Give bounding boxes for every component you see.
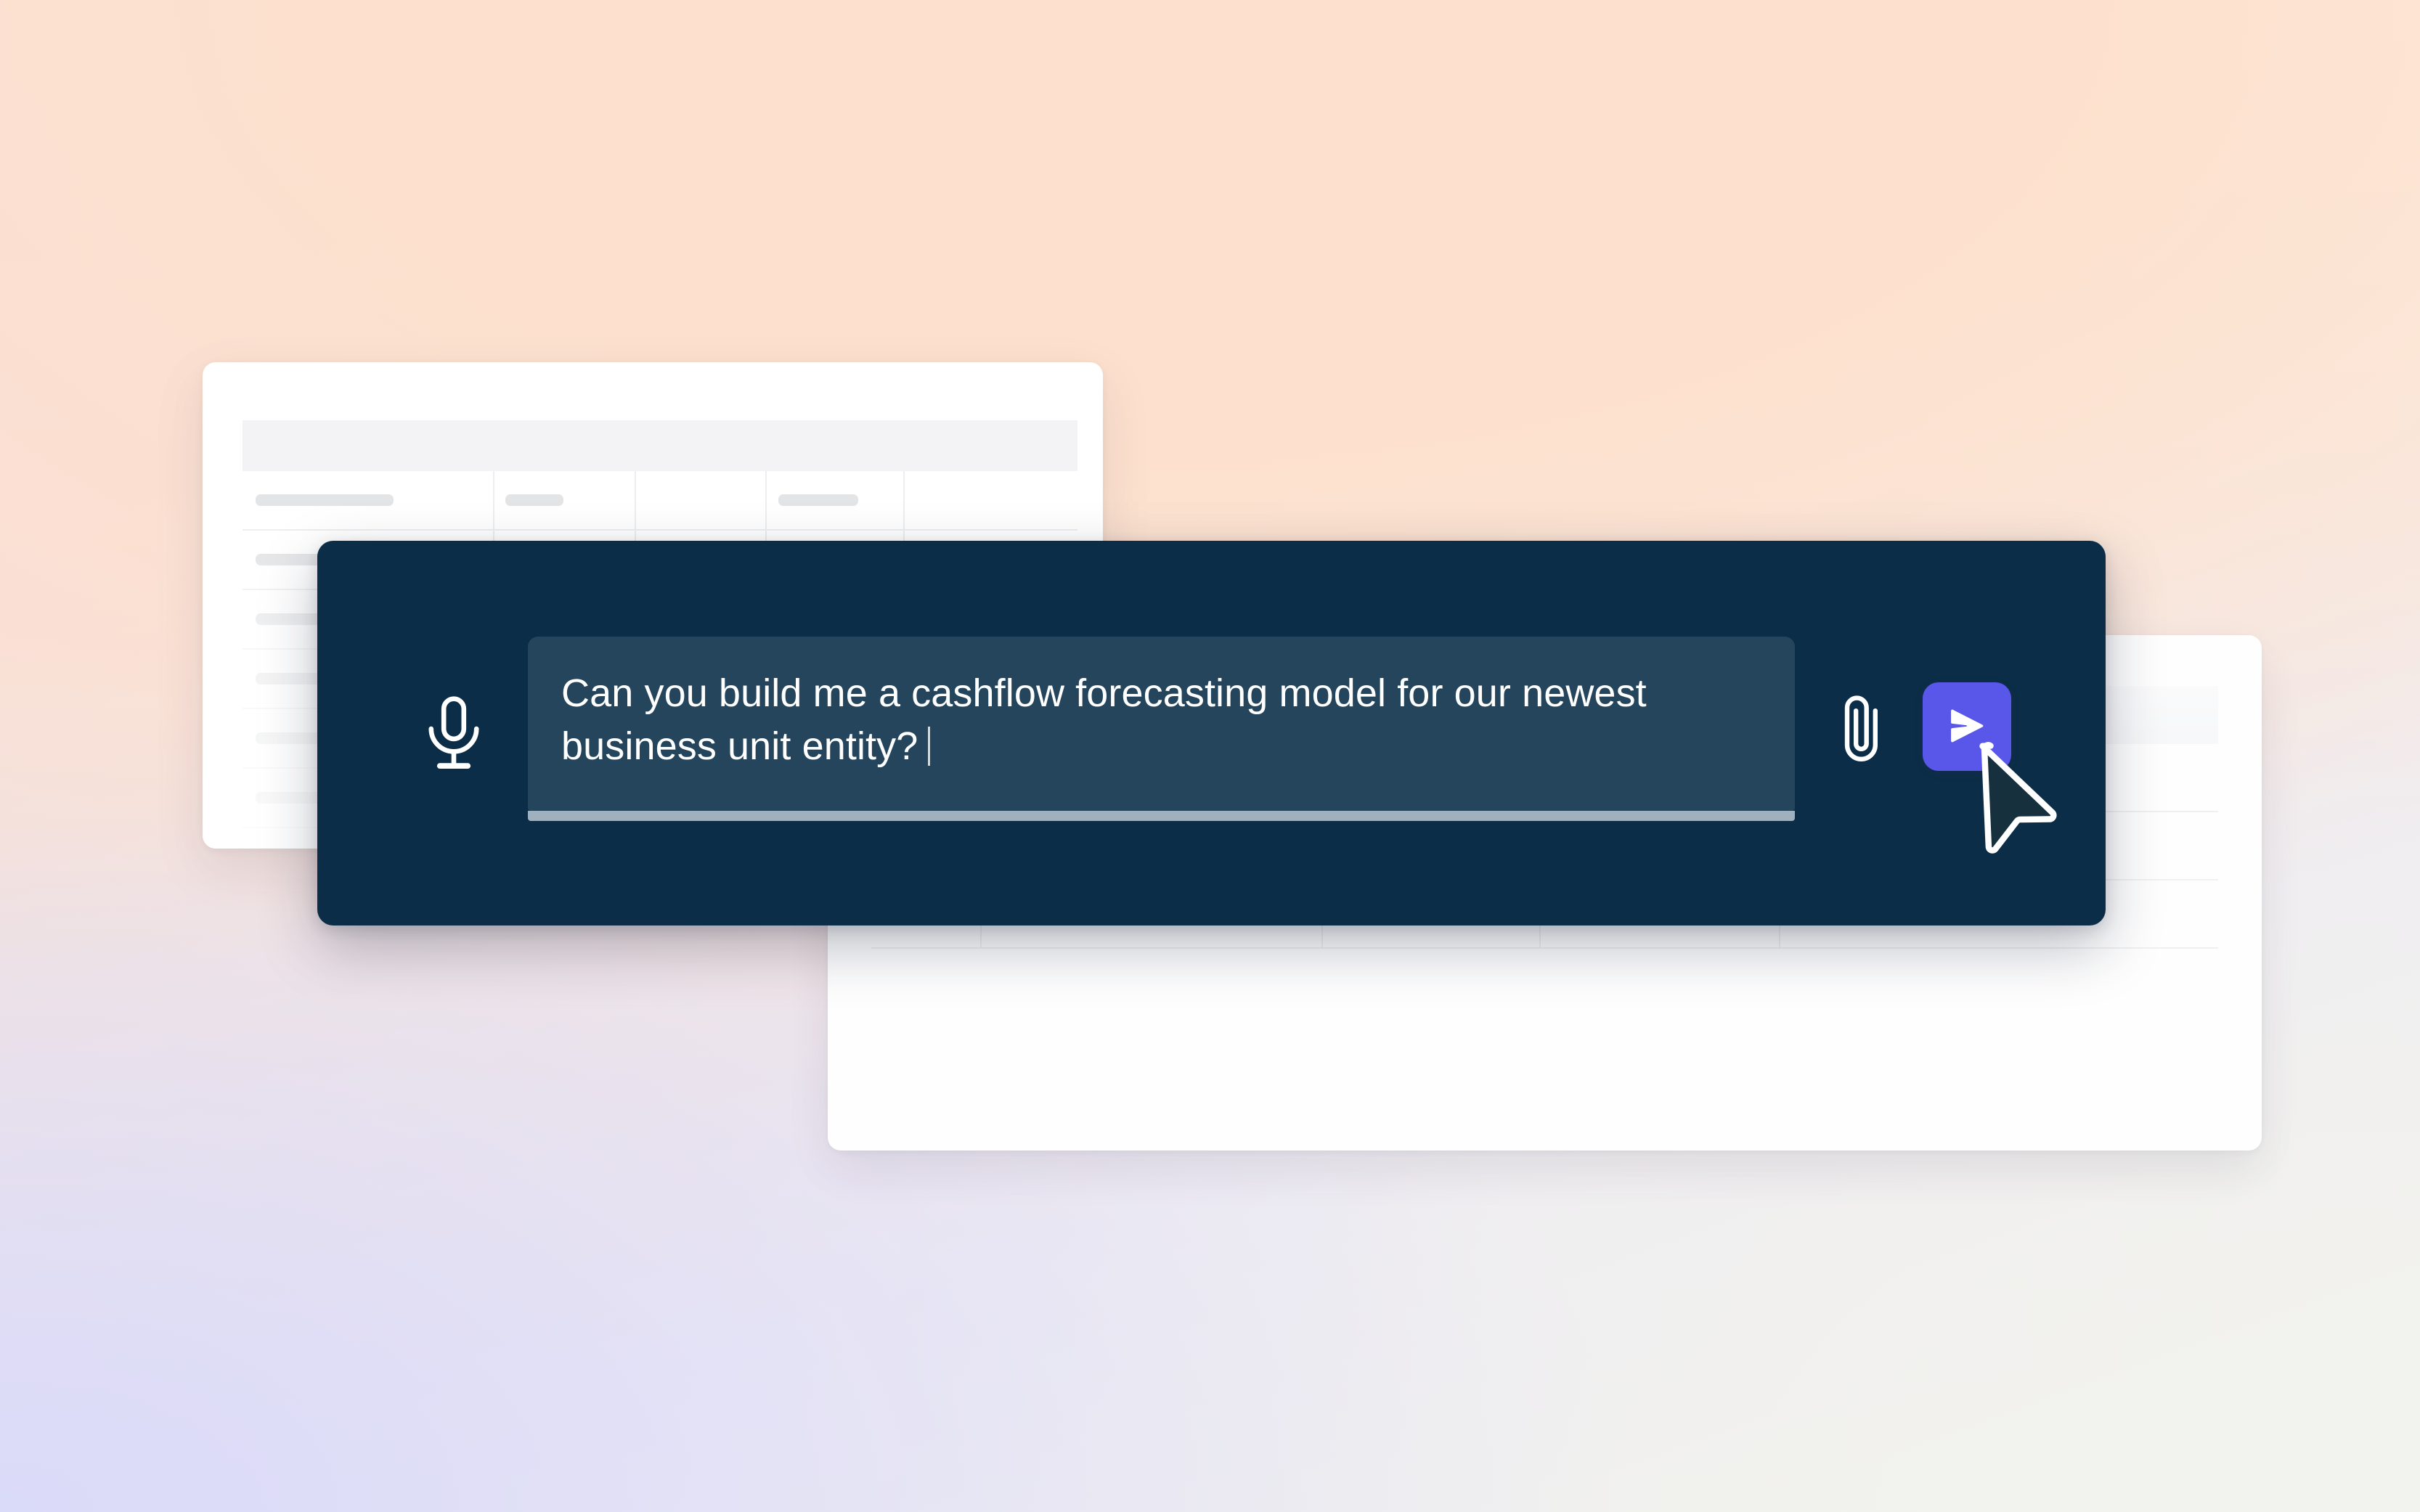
prompt-input[interactable]: Can you build me a cashflow forecasting … [528, 637, 1795, 811]
send-button[interactable]: Send [1923, 682, 2011, 771]
microphone-icon [425, 695, 482, 779]
column-divider [903, 471, 905, 529]
table-cell-placeholder [778, 494, 858, 506]
paperclip-icon [1844, 692, 1889, 767]
column-divider [493, 471, 494, 529]
send-icon [1942, 700, 1992, 753]
attach-file-button[interactable]: Attach file [1832, 686, 1902, 773]
microphone-button[interactable]: Voice input [414, 686, 494, 788]
table-row [243, 471, 1077, 531]
column-divider [765, 471, 767, 529]
prompt-input-value: Can you build me a cashflow forecasting … [561, 671, 1658, 768]
column-divider [635, 471, 636, 529]
table-cell-placeholder [256, 494, 394, 506]
table-cell-placeholder [505, 494, 563, 506]
text-caret [928, 727, 930, 766]
scene: Voice input Can you build me a cashflow … [0, 0, 2420, 1512]
table-header-band [243, 420, 1077, 471]
prompt-input-scrollbar[interactable] [528, 811, 1795, 821]
